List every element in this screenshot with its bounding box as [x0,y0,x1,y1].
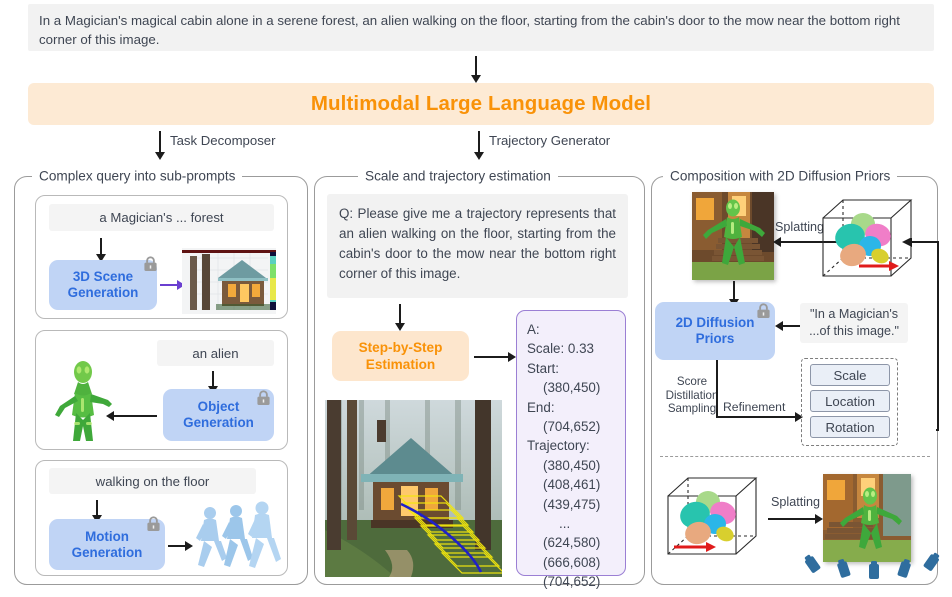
lock-icon [143,256,158,272]
param-location[interactable]: Location [810,390,890,412]
camera-icon [919,551,943,575]
answer-box: A: Scale: 0.33 Start: (380,450) End: (70… [516,310,626,576]
arrow-motion-prompt-to-module [96,500,98,516]
feedback-loop-path [896,238,940,433]
arrow-scene-module-to-image [160,284,178,286]
trajectory-point: (624,580) [527,533,625,552]
refinement-label: Refinement [723,400,785,414]
trajectory-point: (408,461) [527,475,625,494]
trajectory-point: (704,652) [527,572,625,591]
text-condition-line1: "In a Magician's [810,306,898,323]
camera-icon [862,560,886,584]
arrow-prompt-to-mllm [475,56,477,76]
module-motion-generation-line2: Generation [72,545,143,561]
module-motion-generation-line1: Motion [85,529,129,545]
image-forest-cabin-trajectory [325,400,502,577]
motion-subprompt-chip: walking on the floor [49,468,256,494]
lock-icon [756,303,771,319]
answer-end-value: (704,652) [527,417,625,436]
arrow-motion-module-to-figures [168,545,186,547]
text-condition-line2: ...of this image." [809,323,899,340]
image-walking-figures [190,500,286,572]
arrow-splatting-bottom [768,518,816,520]
arrow-to-trajectory-generator [478,131,480,153]
sds-vertical-line [716,360,718,418]
panel-task-decomposition-title: Complex query into sub-prompts [32,169,242,184]
arrow-to-task-decomposer [159,131,161,153]
trajectory-ellipsis: ... [527,514,625,533]
scene-subprompt-chip: a Magician's ... forest [49,204,274,231]
arrow-render-to-diffusion [733,281,735,300]
param-scale[interactable]: Scale [810,364,890,386]
module-3d-scene-generation[interactable]: 3D Scene Generation [49,260,157,310]
param-rotation[interactable]: Rotation [810,416,890,438]
mllm-title: Multimodal Large Language Model [311,92,651,116]
object-subprompt-chip: an alien [157,340,274,366]
answer-scale: Scale: 0.33 [527,339,625,358]
estimator-line2: Estimation [366,356,436,373]
input-prompt-box: In a Magician's magical cabin alone in a… [28,4,934,51]
arrow-object-prompt-to-module [212,371,214,387]
panel-divider [660,456,930,457]
arrow-scene-prompt-to-module [100,238,102,255]
module-object-generation-line2: Generation [183,415,254,431]
trajectory-generator-label: Trajectory Generator [489,133,610,148]
answer-start-value: (380,450) [527,378,625,397]
module-3d-scene-generation-line2: Generation [68,285,139,301]
answer-trajectory-label: Trajectory: [527,436,625,455]
arrow-object-module-to-mesh [113,415,157,417]
input-prompt-text: In a Magician's magical cabin alone in a… [39,13,900,47]
lock-icon [146,516,161,532]
image-cabin-depth-render [182,248,276,314]
camera-icon [832,558,856,582]
trajectory-point: (666,608) [527,553,625,572]
arrow-question-to-estimator [399,304,401,324]
diffusion-line1: 2D Diffusion [676,315,755,331]
trajectory-point: (439,475) [527,495,625,514]
mllm-banner: Multimodal Large Language Model [28,83,934,125]
diffusion-line2: Priors [696,331,735,347]
camera-icon [801,553,825,577]
image-gaussian-box-bottom [660,468,765,560]
module-object-generation-line1: Object [198,399,240,415]
answer-start-label: Start: [527,359,625,378]
splatting-label-bottom: Splatting [771,495,820,509]
camera-icon [892,558,916,582]
module-3d-scene-generation-line1: 3D Scene [73,269,133,285]
text-condition-chip: "In a Magician's ...of this image." [800,303,908,343]
panel-composition-title: Composition with 2D Diffusion Priors [663,169,897,184]
panel-scale-trajectory-title: Scale and trajectory estimation [358,169,558,184]
image-alien-render-bottom [823,474,911,562]
lock-icon [256,390,271,406]
task-decomposer-label: Task Decomposer [170,133,276,148]
trajectory-point: (380,450) [527,456,625,475]
answer-header: A: [527,320,625,339]
answer-end-label: End: [527,398,625,417]
arrow-refinement [716,416,796,418]
question-box: Q: Please give me a trajectory represent… [327,194,628,298]
image-alien-mesh [52,360,114,444]
arrow-estimator-to-answer [474,356,509,358]
image-alien-render-top [692,192,774,280]
module-step-by-step-estimation[interactable]: Step-by-Step Estimation [332,331,469,381]
estimator-line1: Step-by-Step [359,339,443,356]
